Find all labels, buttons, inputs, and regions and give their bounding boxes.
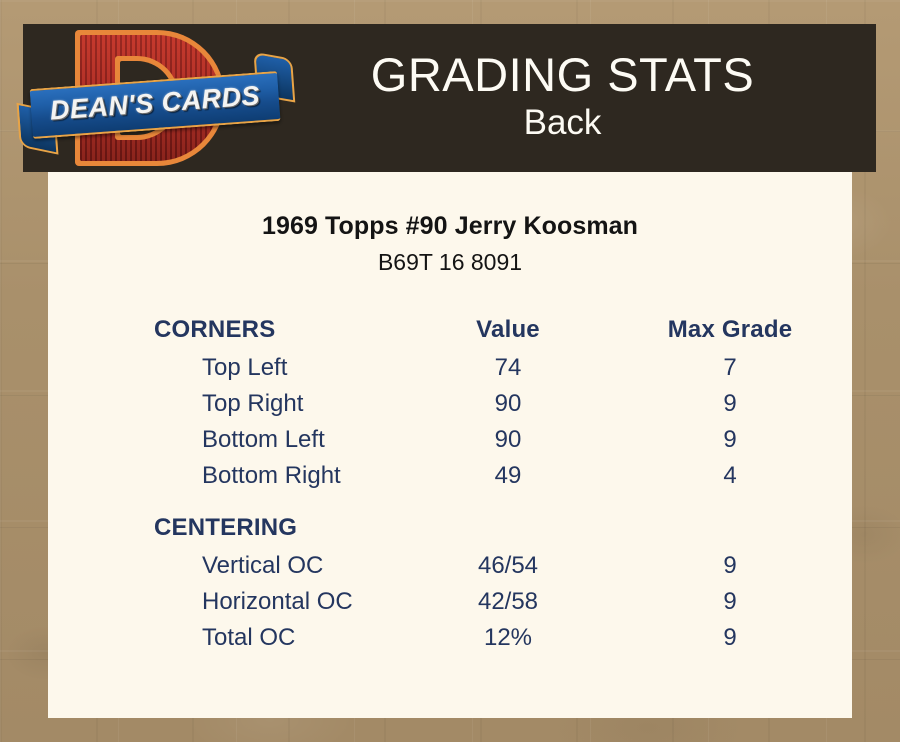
row-label: Bottom Right	[48, 458, 408, 494]
row-label: Horizontal OC	[48, 584, 408, 620]
table-row: Top Right 90 9	[48, 386, 852, 422]
column-header-value-spacer	[408, 508, 608, 548]
column-header-max-grade-spacer	[608, 508, 852, 548]
column-header-value: Value	[408, 310, 608, 350]
logo-wordmark: DEAN'S CARDS	[30, 71, 281, 135]
section-title-centering: CENTERING	[48, 508, 408, 548]
deans-cards-logo: DEAN'S CARDS	[23, 24, 285, 172]
table-row: Bottom Left 90 9	[48, 422, 852, 458]
table-row: Vertical OC 46/54 9	[48, 548, 852, 584]
row-value: 12%	[408, 620, 608, 656]
table-row: Horizontal OC 42/58 9	[48, 584, 852, 620]
row-grade: 7	[608, 350, 852, 386]
row-grade: 4	[608, 458, 852, 494]
section-header-row-corners: CORNERS Value Max Grade	[48, 310, 852, 350]
row-value: 74	[408, 350, 608, 386]
column-header-max-grade: Max Grade	[608, 310, 852, 350]
row-label: Bottom Left	[48, 422, 408, 458]
section-spacer	[48, 494, 852, 508]
row-label: Total OC	[48, 620, 408, 656]
card-title: 1969 Topps #90 Jerry Koosman	[48, 212, 852, 241]
row-grade: 9	[608, 584, 852, 620]
table-row: Top Left 74 7	[48, 350, 852, 386]
content-panel: 1969 Topps #90 Jerry Koosman B69T 16 809…	[48, 172, 852, 718]
page-subtitle: Back	[285, 101, 840, 145]
row-value: 42/58	[408, 584, 608, 620]
grading-stats-table: CORNERS Value Max Grade Top Left 74 7 To…	[48, 310, 852, 656]
row-label: Vertical OC	[48, 548, 408, 584]
row-value: 49	[408, 458, 608, 494]
table-row: Total OC 12% 9	[48, 620, 852, 656]
table-row: Bottom Right 49 4	[48, 458, 852, 494]
page-background: DEAN'S CARDS GRADING STATS Back 1969 Top…	[0, 0, 900, 742]
logo-ribbon-banner: DEAN'S CARDS	[29, 65, 281, 143]
row-value: 46/54	[408, 548, 608, 584]
page-title: GRADING STATS	[285, 51, 840, 99]
row-grade: 9	[608, 548, 852, 584]
section-header-row-centering: CENTERING	[48, 508, 852, 548]
header-bar: DEAN'S CARDS GRADING STATS Back	[23, 24, 876, 172]
row-grade: 9	[608, 422, 852, 458]
row-grade: 9	[608, 620, 852, 656]
section-title-corners: CORNERS	[48, 310, 408, 350]
row-value: 90	[408, 422, 608, 458]
row-value: 90	[408, 386, 608, 422]
row-label: Top Right	[48, 386, 408, 422]
card-identifier: B69T 16 8091	[48, 249, 852, 276]
row-label: Top Left	[48, 350, 408, 386]
header-title-group: GRADING STATS Back	[285, 51, 876, 145]
row-grade: 9	[608, 386, 852, 422]
